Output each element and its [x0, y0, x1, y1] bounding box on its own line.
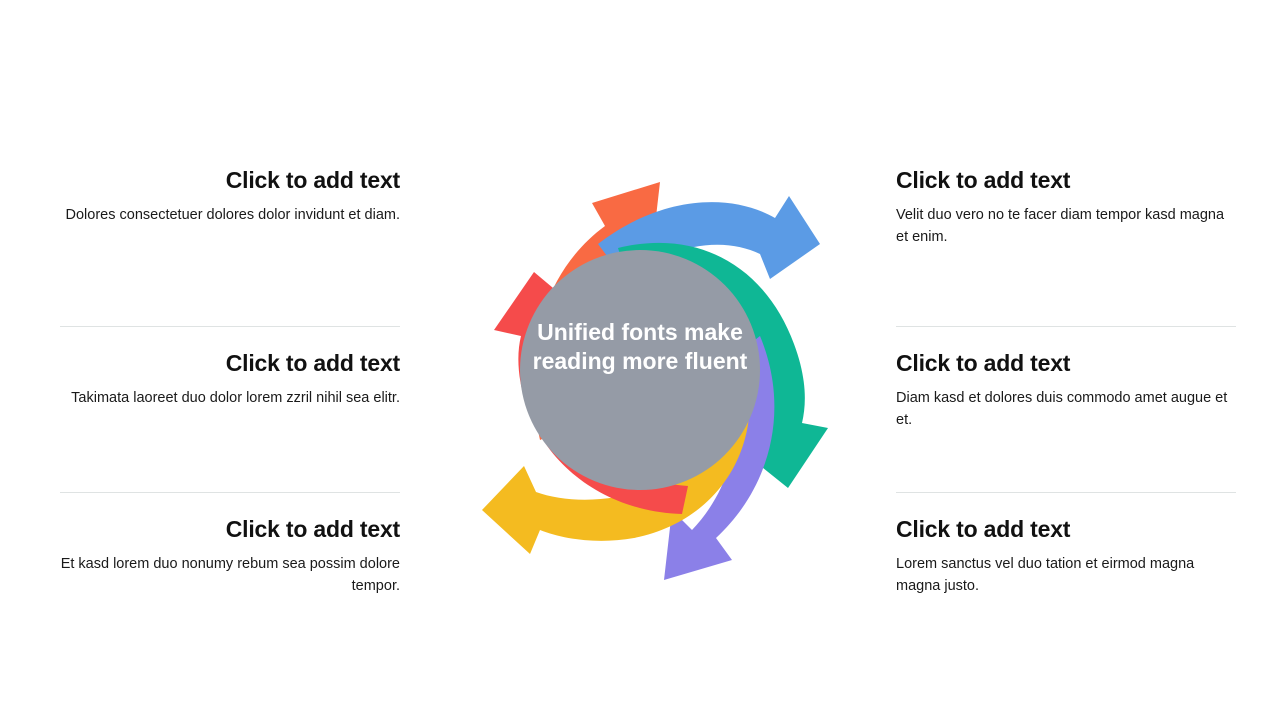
- list-item[interactable]: Click to add text Diam kasd et dolores d…: [896, 326, 1236, 492]
- entry-body[interactable]: Diam kasd et dolores duis commodo amet a…: [896, 387, 1236, 432]
- entry-title[interactable]: Click to add text: [60, 515, 400, 544]
- list-item[interactable]: Click to add text Velit duo vero no te f…: [896, 160, 1236, 326]
- left-text-column: Click to add text Dolores consectetuer d…: [60, 160, 400, 658]
- center-circle[interactable]: [520, 250, 760, 490]
- list-item[interactable]: Click to add text Dolores consectetuer d…: [60, 160, 400, 326]
- list-item[interactable]: Click to add text Et kasd lorem duo nonu…: [60, 492, 400, 658]
- list-item[interactable]: Click to add text Takimata laoreet duo d…: [60, 326, 400, 492]
- entry-body[interactable]: Dolores consectetuer dolores dolor invid…: [60, 204, 400, 226]
- list-item[interactable]: Click to add text Lorem sanctus vel duo …: [896, 492, 1236, 658]
- entry-title[interactable]: Click to add text: [60, 349, 400, 378]
- entry-body[interactable]: Velit duo vero no te facer diam tempor k…: [896, 204, 1236, 249]
- right-text-column: Click to add text Velit duo vero no te f…: [896, 160, 1236, 658]
- entry-title[interactable]: Click to add text: [896, 349, 1236, 378]
- slide-canvas: Click to add text Dolores consectetuer d…: [0, 0, 1280, 720]
- entry-title[interactable]: Click to add text: [896, 166, 1236, 195]
- swirl-cycle-diagram: [420, 140, 860, 600]
- entry-title[interactable]: Click to add text: [896, 515, 1236, 544]
- entry-body[interactable]: Et kasd lorem duo nonumy rebum sea possi…: [60, 553, 400, 598]
- entry-body[interactable]: Takimata laoreet duo dolor lorem zzril n…: [60, 387, 400, 409]
- entry-title[interactable]: Click to add text: [60, 166, 400, 195]
- entry-body[interactable]: Lorem sanctus vel duo tation et eirmod m…: [896, 553, 1236, 598]
